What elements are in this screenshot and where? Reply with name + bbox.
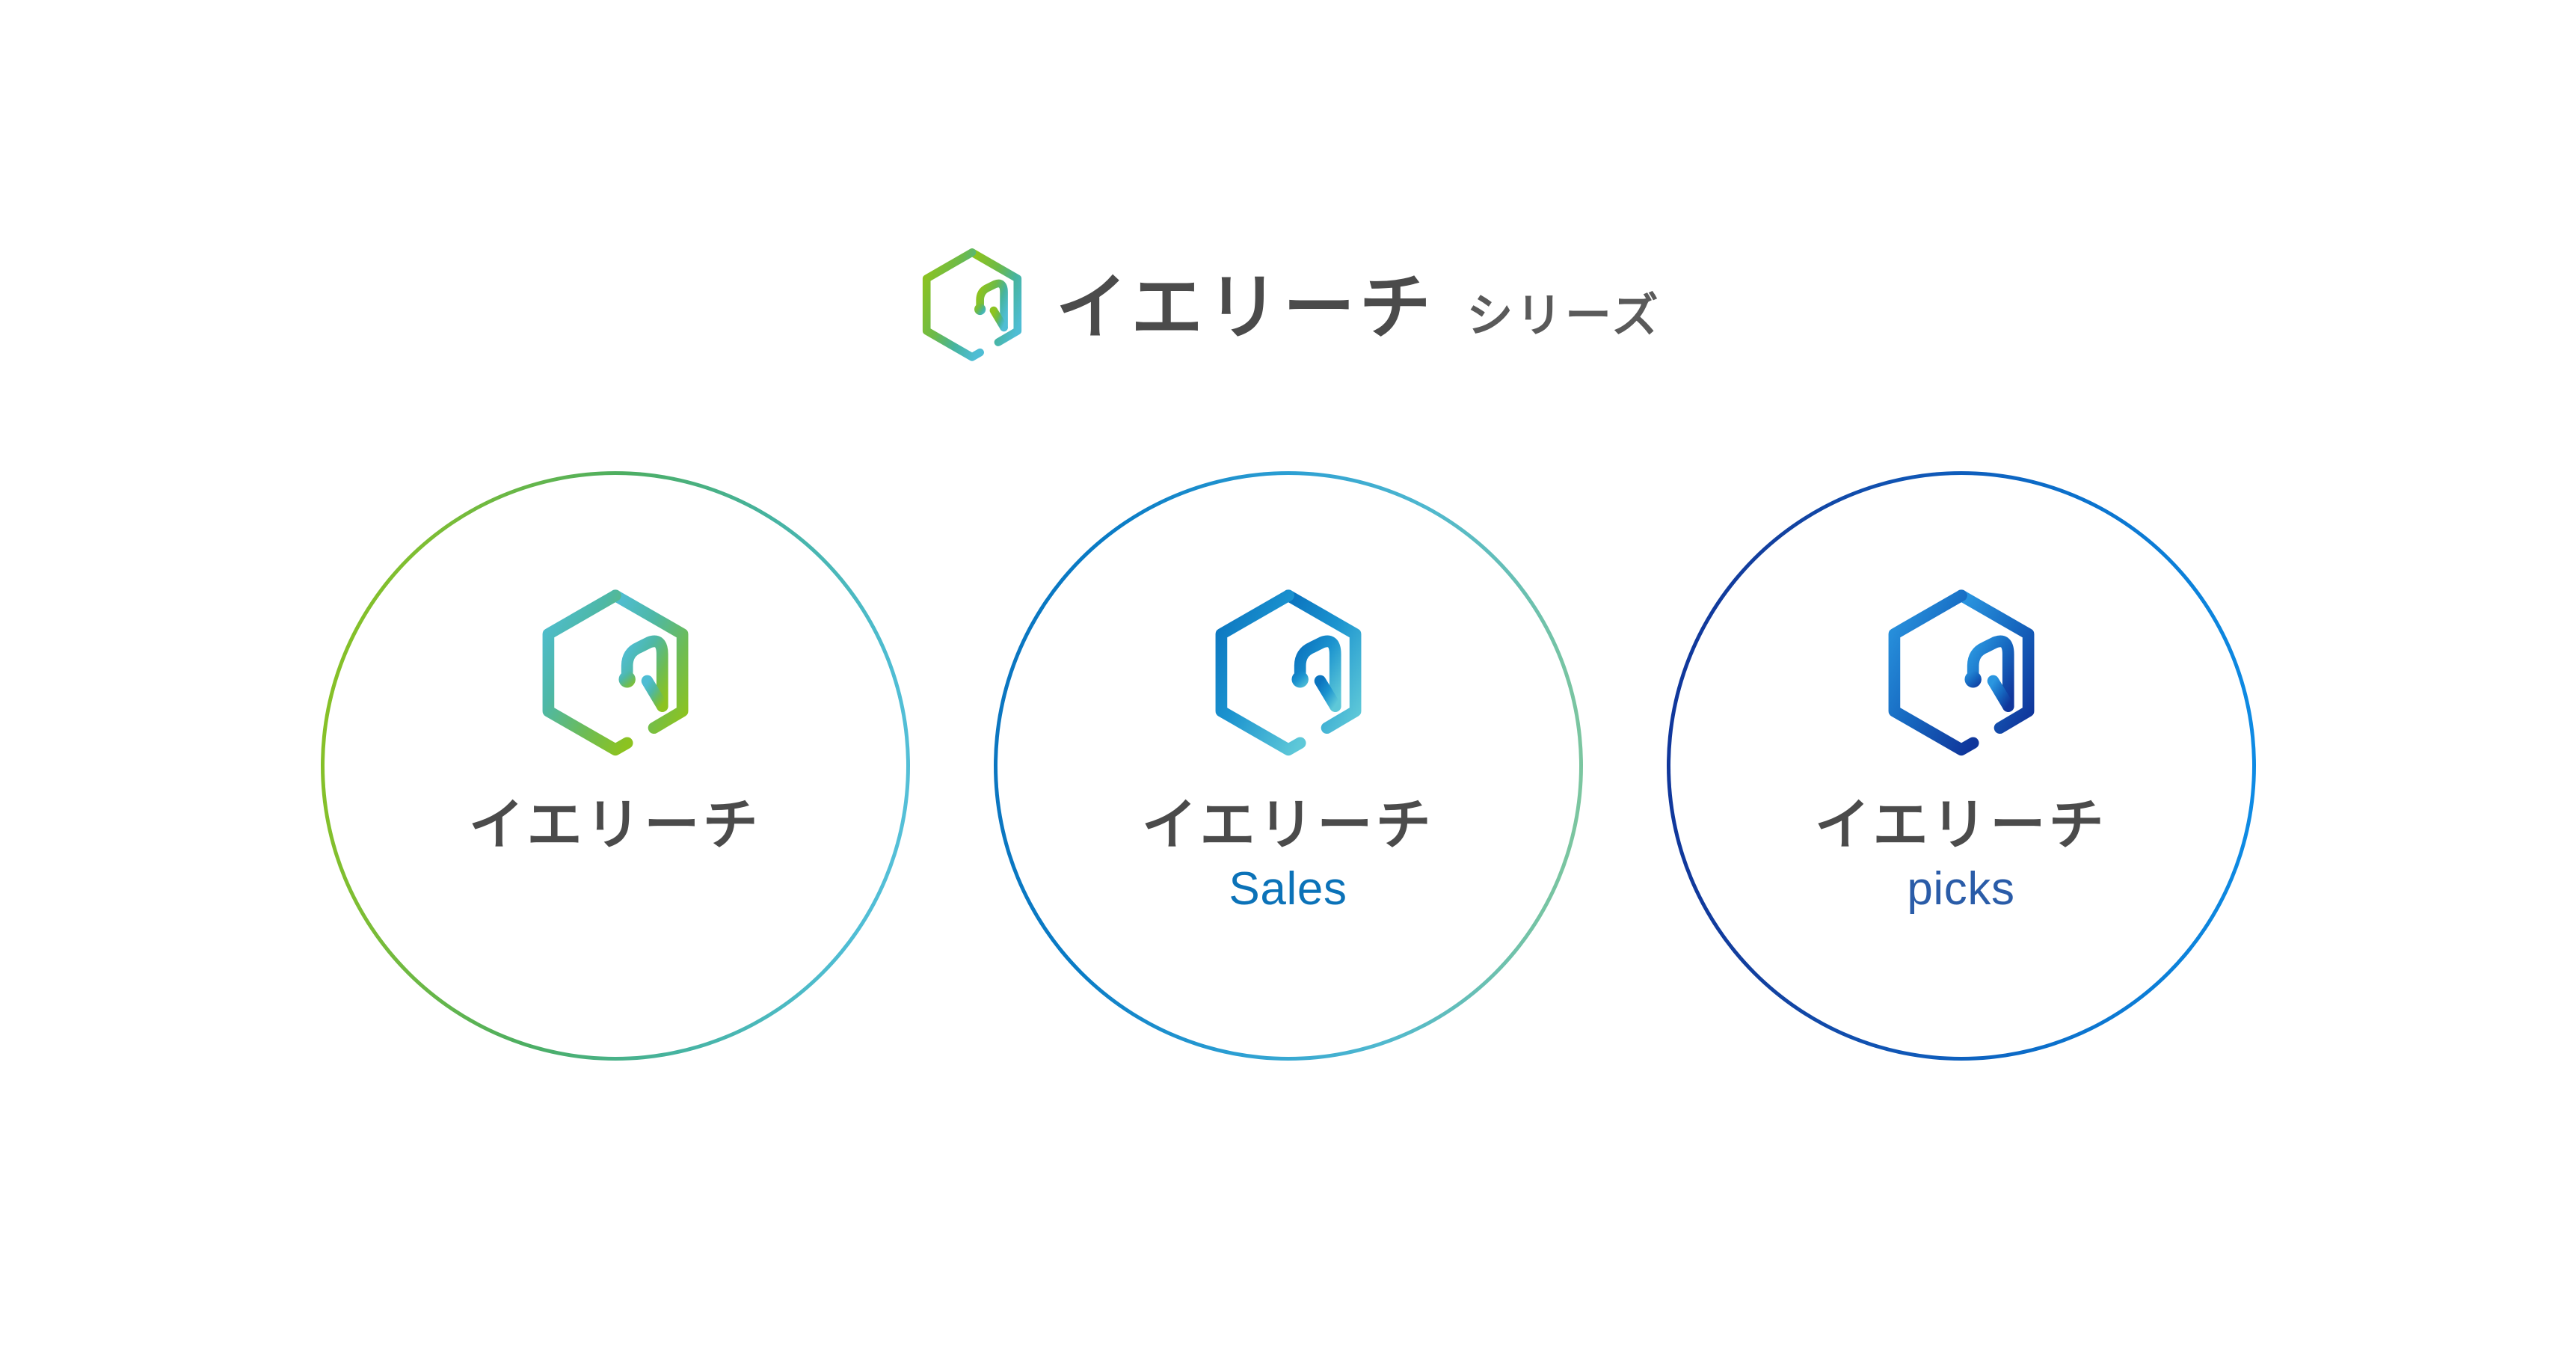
product-title: イエリーチ bbox=[469, 797, 761, 853]
product-card-ieriichi-picks[interactable]: イエリーチ picks bbox=[1667, 471, 2256, 1061]
logo-dot-icon bbox=[1291, 671, 1308, 687]
product-title: イエリーチ bbox=[1142, 797, 1434, 853]
logo-dot-icon bbox=[1964, 671, 1981, 687]
card-content: イエリーチ picks bbox=[1667, 471, 2256, 1061]
product-card-ieriichi-sales[interactable]: イエリーチ Sales bbox=[994, 471, 1583, 1061]
header-text-row: イエリーチ シリーズ bbox=[1056, 272, 1662, 344]
logo-dot-icon bbox=[974, 304, 986, 315]
header-series-label: シリーズ bbox=[1467, 293, 1662, 344]
ieriichi-hexagon-ir-logo-icon bbox=[1878, 585, 2045, 770]
page-root: イエリーチ シリーズ bbox=[0, 0, 2576, 1368]
product-circle-row: イエリーチ bbox=[0, 471, 2576, 1070]
header-lockup: イエリーチ シリーズ bbox=[0, 241, 2576, 375]
card-content: イエリーチ Sales bbox=[994, 471, 1583, 1061]
product-subtitle: Sales bbox=[1229, 866, 1347, 912]
logo-dot-icon bbox=[618, 671, 635, 687]
ieriichi-hexagon-ir-logo-icon bbox=[915, 245, 1029, 371]
card-content: イエリーチ bbox=[321, 471, 910, 1061]
product-card-ieriichi[interactable]: イエリーチ bbox=[321, 471, 910, 1061]
header-brand-name: イエリーチ bbox=[1056, 272, 1436, 344]
ieriichi-hexagon-ir-logo-icon bbox=[532, 585, 699, 770]
product-title: イエリーチ bbox=[1815, 797, 2107, 853]
ieriichi-hexagon-ir-logo-icon bbox=[1205, 585, 1372, 770]
product-subtitle: picks bbox=[1907, 866, 2014, 912]
